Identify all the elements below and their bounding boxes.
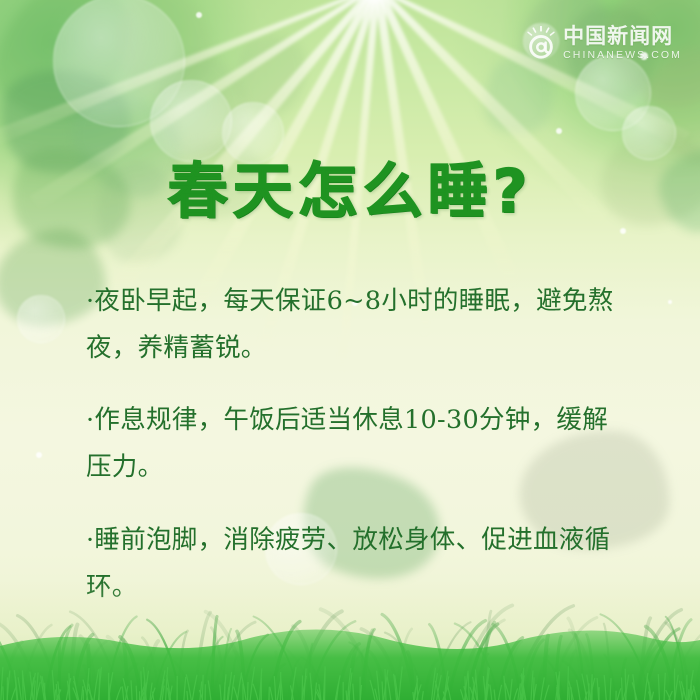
sparkle-dot [36, 452, 42, 458]
bokeh-circle [17, 295, 65, 343]
turf-tuft [622, 678, 623, 700]
list-item: ·作息规律，午饭后适当休息10-30分钟，缓解压力。 [86, 397, 626, 491]
page-title: 春天怎么睡? [0, 143, 700, 230]
turf-tuft [413, 692, 414, 700]
turf-tuft [3, 686, 4, 700]
turf-tuft [136, 686, 137, 700]
turf-tuft [23, 670, 24, 700]
sparkle-dot [668, 300, 672, 304]
logo-english-name: CHINANEWS.COM [563, 50, 682, 61]
sparkle-dot [196, 12, 202, 18]
poster-canvas: 中国新闻网 CHINANEWS.COM 春天怎么睡? ·夜卧早起，每天保证6~8… [0, 0, 700, 700]
grass-illustration [0, 550, 700, 700]
turf-tuft [202, 675, 203, 700]
turf-tuft [187, 691, 188, 700]
turf-tuft [69, 673, 70, 700]
turf-tuft [534, 677, 535, 700]
turf-tuft [625, 669, 626, 700]
sparkle-dot [556, 128, 562, 134]
turf-tuft [346, 691, 347, 700]
list-item: ·夜卧早起，每天保证6~8小时的睡眠，避免熬夜，养精蓄锐。 [86, 278, 626, 372]
logo-chinese-name: 中国新闻网 [563, 26, 673, 47]
logo-wordmark: 中国新闻网 CHINANEWS.COM [563, 26, 682, 61]
turf-tuft [465, 676, 466, 700]
turf-tuft [349, 691, 350, 700]
turf-tuft [569, 687, 570, 700]
chinanews-logo[interactable]: 中国新闻网 CHINANEWS.COM [524, 26, 682, 61]
turf-tuft [144, 681, 145, 700]
turf-tuft [325, 666, 326, 700]
chinanews-at-icon [524, 26, 558, 60]
